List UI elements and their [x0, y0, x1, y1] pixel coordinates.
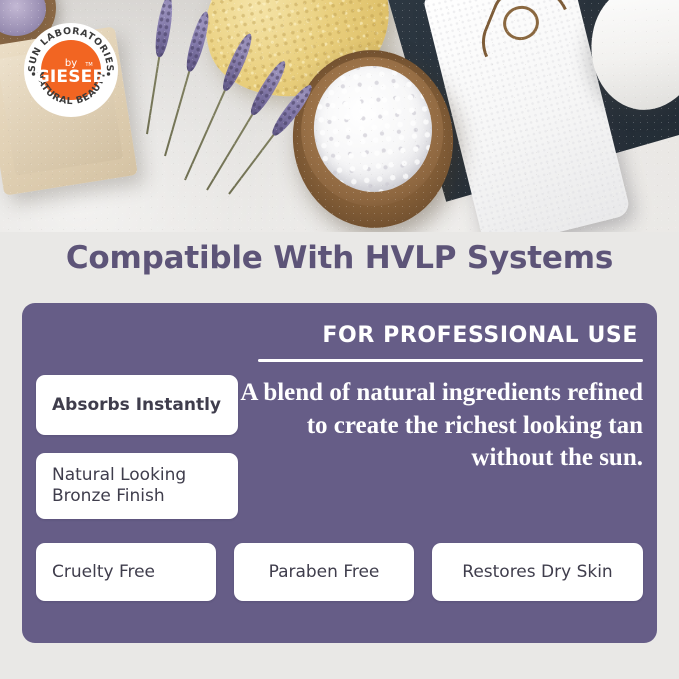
feature-card-absorbs-instantly[interactable]: Absorbs Instantly — [36, 375, 238, 435]
features-panel: FOR PROFESSIONAL USE A blend of natural … — [22, 303, 657, 643]
product-lifestyle-photo: SUN LABORATORIES NATURAL BEAUTY by GIESE… — [0, 0, 679, 232]
logo-trademark-symbol: TM — [84, 62, 92, 68]
feature-card-paraben-free[interactable]: Paraben Free — [234, 543, 414, 601]
logo-brand-name: GIESEE — [36, 67, 105, 87]
feature-card-cruelty-free[interactable]: Cruelty Free — [36, 543, 216, 601]
page-title: Compatible With HVLP Systems — [0, 240, 679, 276]
brand-logo-badge: SUN LABORATORIES NATURAL BEAUTY by GIESE… — [23, 22, 119, 118]
feature-card-natural-looking-bronze-finish[interactable]: Natural Looking Bronze Finish — [36, 453, 238, 519]
panel-divider — [258, 359, 643, 362]
panel-description: A blend of natural ingredients refined t… — [227, 377, 643, 475]
feature-card-label: Absorbs Instantly — [52, 395, 221, 415]
product-infographic: SUN LABORATORIES NATURAL BEAUTY by GIESE… — [0, 0, 679, 679]
feature-card-label: Paraben Free — [269, 562, 380, 582]
feature-card-label: Natural Looking Bronze Finish — [52, 465, 222, 508]
panel-heading: FOR PROFESSIONAL USE — [258, 323, 638, 348]
feature-card-restores-dry-skin[interactable]: Restores Dry Skin — [432, 543, 643, 601]
feature-card-label: Restores Dry Skin — [462, 562, 612, 582]
feature-card-label: Cruelty Free — [52, 562, 155, 582]
